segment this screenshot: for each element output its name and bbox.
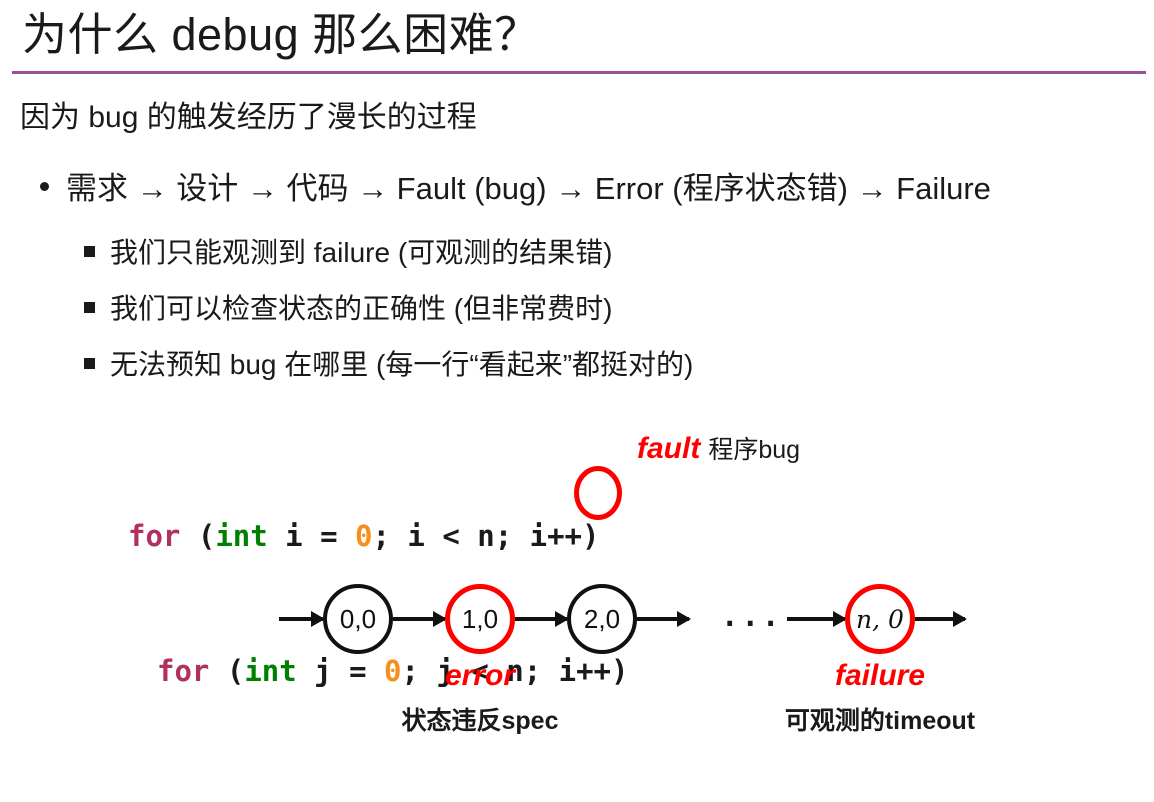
code-keyword: for (128, 519, 180, 553)
title-divider (12, 71, 1146, 74)
state-node-00: 0,0 (323, 584, 393, 654)
state-node-20: 2,0 (567, 584, 637, 654)
fault-label-cn: 程序bug (708, 436, 800, 464)
bullet-level2-label: 我们可以检查状态的正确性 (但非常费时) (110, 290, 612, 328)
failure-annotation: failure 可观测的timeout (730, 656, 1030, 741)
disc-bullet-icon (40, 182, 49, 191)
error-annotation: error 状态违反spec (330, 656, 630, 741)
bullet-level2: 我们可以检查状态的正确性 (但非常费时) (84, 290, 612, 328)
failure-label-cn: 可观测的timeout (730, 701, 1030, 741)
code-text: i = (268, 519, 355, 553)
code-number: 0 (355, 519, 372, 553)
code-line: for (int i = 0; i < n; i++) (128, 514, 628, 559)
state-node-label: 2,0 (584, 606, 620, 632)
arrow-icon (915, 617, 965, 621)
state-node-n0: n, 0 (845, 584, 915, 654)
error-label: error (330, 656, 630, 696)
state-node-label: 0,0 (340, 606, 376, 632)
arrow-icon (279, 617, 323, 621)
page-title: 为什么 debug 那么困难？ (22, 4, 540, 66)
lead-text: 因为 bug 的触发经历了漫长的过程 (20, 98, 477, 138)
diagram-ellipsis: ... (721, 599, 782, 633)
arrow-icon (787, 617, 845, 621)
error-label-cn: 状态违反spec (330, 701, 630, 741)
fault-annotation: fault程序bug (637, 430, 800, 473)
state-node-label: 1,0 (462, 606, 498, 632)
square-bullet-icon (84, 246, 95, 257)
code-punct: ( (180, 519, 215, 553)
state-node-label: n, 0 (856, 607, 904, 632)
arrow-icon (393, 617, 445, 621)
failure-label: failure (730, 656, 1030, 696)
bullet-level1-label: 需求 → 设计 → 代码 → Fault (bug) → Error (程序状态… (66, 168, 991, 210)
bullet-level2-label: 无法预知 bug 在哪里 (每一行“看起来”都挺对的) (110, 346, 693, 384)
code-line: ... (128, 784, 628, 802)
bullet-level2-label: 我们只能观测到 failure (可观测的结果错) (110, 234, 612, 272)
bug-highlight-ellipse-icon (574, 466, 622, 520)
bullet-level2: 我们只能观测到 failure (可观测的结果错) (84, 234, 612, 272)
state-node-10: 1,0 (445, 584, 515, 654)
square-bullet-icon (84, 358, 95, 369)
bullet-level1: 需求 → 设计 → 代码 → Fault (bug) → Error (程序状态… (40, 168, 991, 210)
square-bullet-icon (84, 302, 95, 313)
arrow-icon (637, 617, 689, 621)
code-text: ; i < n; i++) (372, 519, 599, 553)
arrow-icon (515, 617, 567, 621)
code-type: int (215, 519, 267, 553)
bullet-level2: 无法预知 bug 在哪里 (每一行“看起来”都挺对的) (84, 346, 693, 384)
fault-label: fault (637, 432, 700, 465)
slide-canvas: 为什么 debug 那么困难？ 因为 bug 的触发经历了漫长的过程 需求 → … (0, 0, 1154, 802)
